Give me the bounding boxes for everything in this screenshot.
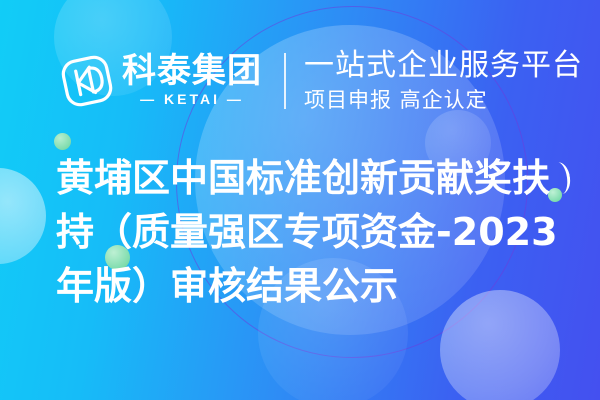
brand-wordmark: 科泰集团 — KETAI — — [122, 54, 262, 108]
tagline-main: 一站式企业服务平台 — [304, 48, 583, 83]
decorative-green-dot — [54, 133, 71, 150]
brand-name-en: — KETAI — — [140, 91, 244, 109]
brand-name-cn: 科泰集团 — [122, 54, 262, 89]
ketai-monogram-icon — [58, 52, 116, 110]
header-divider — [284, 53, 286, 109]
banner-header: 科泰集团 — KETAI — 一站式企业服务平台 项目申报 高企认定 — [58, 42, 583, 120]
banner-title: 黄埔区中国标准创新贡献奖扶持（质量强区专项资金-2023年版）审核结果公示 — [56, 152, 566, 314]
tagline-sub: 项目申报 高企认定 — [304, 87, 583, 114]
tagline-block: 一站式企业服务平台 项目申报 高企认定 — [304, 48, 583, 114]
promo-banner: 科泰集团 — KETAI — 一站式企业服务平台 项目申报 高企认定 黄埔区中国… — [0, 0, 600, 400]
decorative-disc-left-edge — [0, 168, 46, 264]
